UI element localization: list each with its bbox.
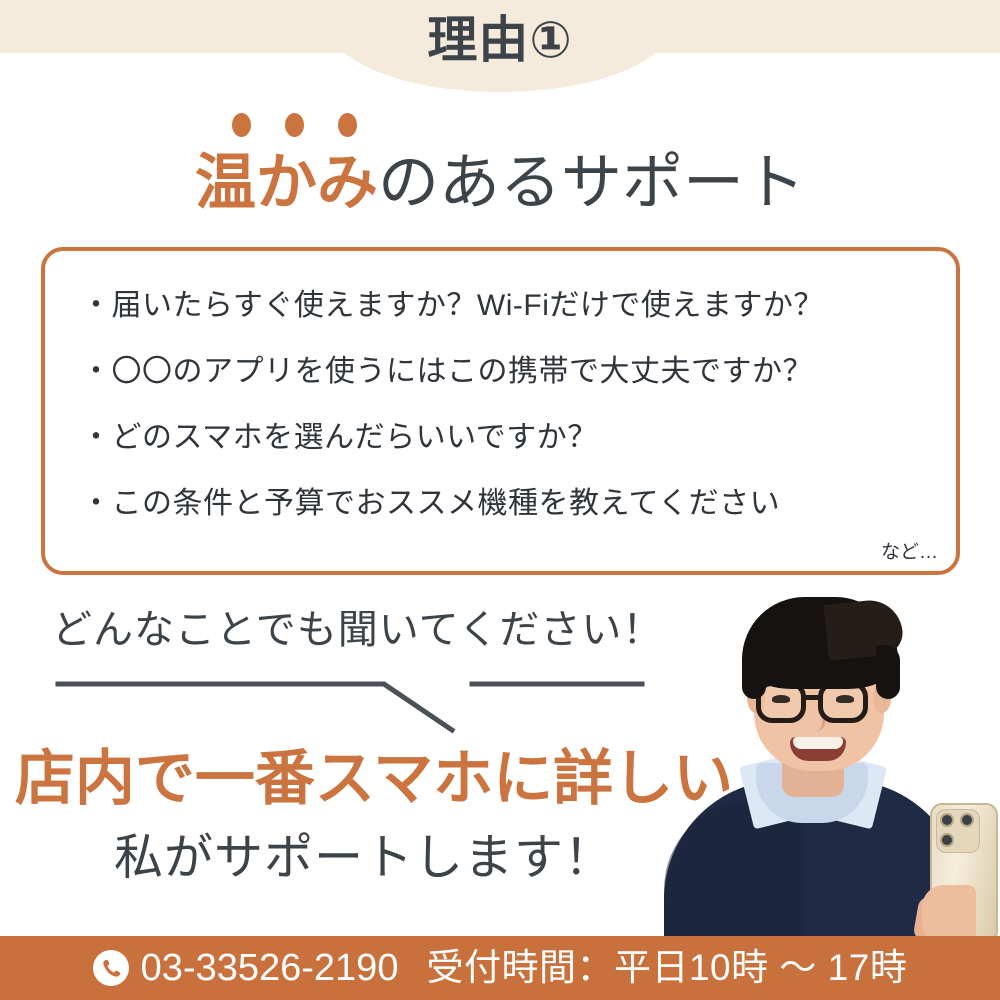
etcetera-note: など… — [881, 541, 938, 565]
reason-badge-title: 理由① — [0, 8, 1000, 72]
emphasis-dot — [285, 113, 304, 137]
phone-number: 03-33526-2190 — [141, 946, 399, 990]
phone-handset-icon — [93, 950, 129, 986]
claim-dark-line: 私がサポートします！ — [14, 822, 714, 894]
speech-bubble-tail-underline — [40, 668, 670, 738]
teeth-shape — [793, 737, 843, 749]
question-item: ・どのスマホを選んだらいいですか？ — [81, 405, 941, 471]
smartphone-camera-module — [936, 809, 980, 853]
emphasis-dot — [232, 113, 251, 137]
hand-shape — [922, 885, 976, 940]
camera-lens — [960, 813, 974, 827]
question-item: ・届いたらすぐ使えますか？Wi-Fiだけで使えますか？ — [81, 273, 941, 339]
eyeglasses-bridge — [804, 695, 822, 700]
contact-footer-bar: 03-33526-2190 受付時間：平日10時 〜 17時 — [0, 936, 1000, 1000]
staff-photo — [630, 585, 1000, 940]
ask-anything-text: どんなことでも聞いてください！ — [52, 602, 663, 658]
emphasis-dot — [338, 113, 357, 137]
hair-side-right — [876, 645, 900, 699]
question-item: ・〇〇のアプリを使うにはこの携帯で大丈夫ですか？ — [81, 339, 941, 405]
promo-poster: 理由① 温かみのあるサポート ・届いたらすぐ使えますか？Wi-Fiだけで使えます… — [0, 0, 1000, 1000]
question-item: ・この条件と予算でおススメ機種を教えてください — [81, 471, 941, 537]
business-hours: 受付時間：平日10時 〜 17時 — [426, 946, 907, 990]
smiling-mouth — [790, 737, 846, 761]
three-dots-emphasis-icon — [232, 113, 402, 139]
hair-side-left — [742, 645, 766, 699]
camera-lens — [940, 833, 954, 847]
headline-rest-text: のあるサポート — [378, 148, 805, 216]
headline-accent-text: 温かみ — [195, 148, 378, 216]
camera-lens — [940, 813, 954, 827]
section-headline: 温かみのあるサポート — [0, 143, 1000, 221]
footer-content: 03-33526-2190 受付時間：平日10時 〜 17時 — [0, 936, 1000, 1000]
claim-orange-line: 店内で一番スマホに詳しい — [14, 742, 734, 816]
question-list: ・届いたらすぐ使えますか？Wi-Fiだけで使えますか？ ・〇〇のアプリを使うには… — [81, 273, 941, 537]
customer-questions-box: ・届いたらすぐ使えますか？Wi-Fiだけで使えますか？ ・〇〇のアプリを使うには… — [41, 247, 960, 575]
phone-contact-group[interactable]: 03-33526-2190 — [93, 946, 399, 990]
